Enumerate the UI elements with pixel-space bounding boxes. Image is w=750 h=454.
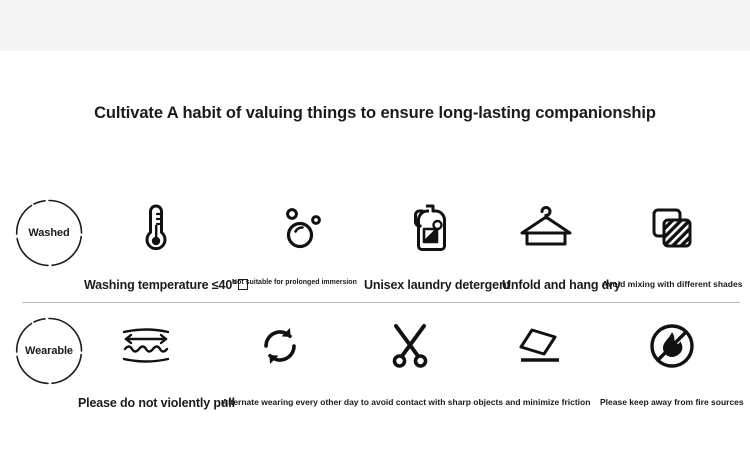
icon-cell-no-fire [640,318,704,374]
clothes-hanger-icon [517,205,575,251]
care-row-washed: Washed [0,196,750,292]
eraser-friction-icon [515,326,565,366]
icon-cell-bubbles [272,200,336,256]
badge-wearable-label: Wearable [14,316,84,386]
thermometer-icon [141,203,171,253]
page-title: Cultivate A habit of valuing things to e… [0,104,750,123]
icon-cell-hanger [514,200,578,256]
caption-alternate-wearing: Alternate wearing every other day to avo… [222,395,590,409]
rotation-cycle-icon [258,324,302,368]
top-gray-band [0,0,750,51]
captions-wearable: Please do not violently pull Alternate w… [0,390,750,410]
badge-washed-label: Washed [14,198,84,268]
icon-cell-rotation [248,318,312,374]
soap-bubbles-icon [280,206,328,250]
row-divider [22,302,740,303]
scissors-icon [388,323,432,369]
caption-do-not-pull: Please do not violently pull [78,396,235,410]
caption-washing-temperature-text: Washing temperature ≤40° [84,278,237,292]
caption-keep-away-fire: Please keep away from fire sources [600,395,744,409]
captions-washed: Washing temperature ≤40° Not suitable fo… [0,272,750,292]
icon-cell-detergent [398,200,462,256]
icon-cell-thermometer [124,200,188,256]
caption-avoid-mixing-shades: Avoid mixing with different shades [602,277,742,291]
badge-wearable: Wearable [14,316,84,386]
icon-cell-scissors [378,318,442,374]
icon-cell-stretch [114,318,178,374]
caption-unisex-detergent: Unisex laundry detergent [364,278,510,292]
caption-no-prolonged-immersion: Not suitable for prolonged immersion [232,276,357,290]
color-separation-icon [648,205,696,251]
icon-cell-color-separation [640,200,704,256]
care-row-wearable: Wearable [0,314,750,410]
caption-washing-temperature: Washing temperature ≤40° [84,278,248,292]
detergent-bottle-icon [410,203,450,253]
no-fire-icon [649,323,695,369]
stretch-arrows-icon [118,326,174,366]
badge-washed: Washed [14,198,84,268]
icon-cell-friction [508,318,572,374]
